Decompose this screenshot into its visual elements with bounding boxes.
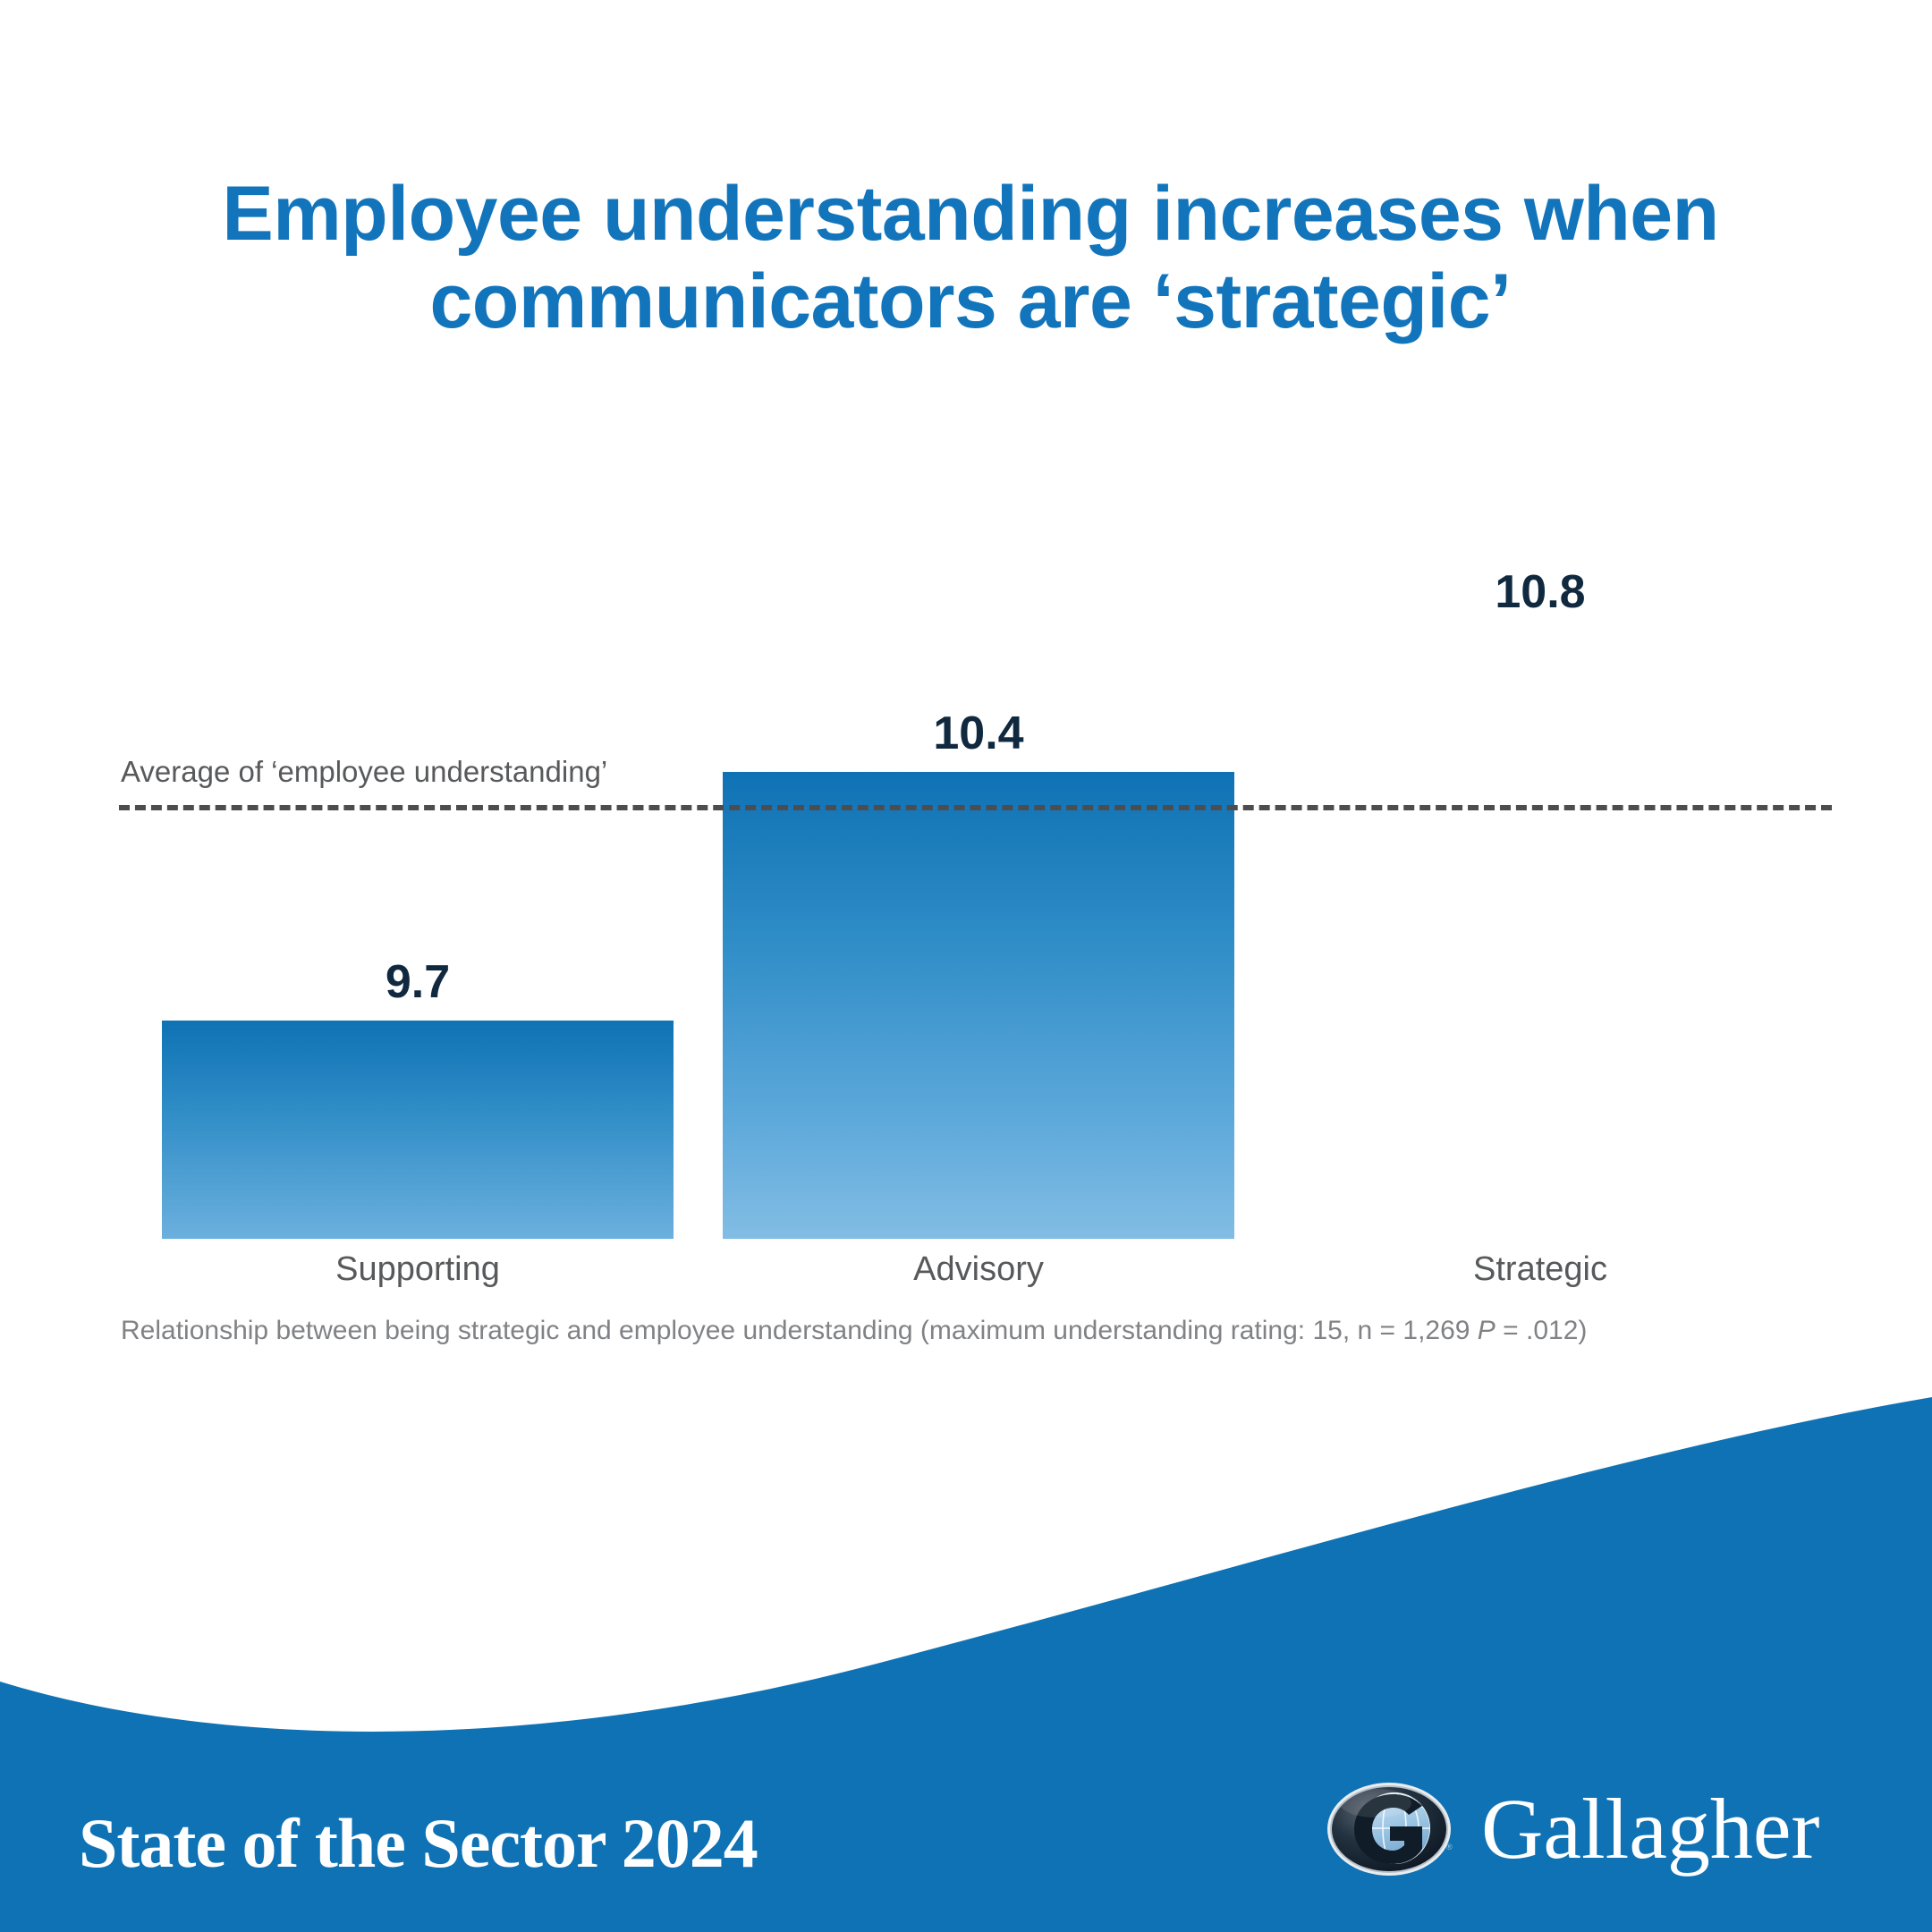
bar-advisory <box>723 772 1234 1239</box>
brand-lockup: ® Gallagher <box>1324 1780 1819 1878</box>
category-label-strategic: Strategic <box>1284 1252 1797 1286</box>
footnote-suffix: = .012) <box>1496 1316 1588 1345</box>
bar-chart: 9.7 10.4 10.8 Average of ‘employee under… <box>0 0 1932 1395</box>
bar-value-strategic: 10.8 <box>1284 569 1797 615</box>
footnote-prefix: Relationship between being strategic and… <box>121 1316 1478 1345</box>
svg-text:®: ® <box>1446 1843 1453 1851</box>
gallagher-globe-icon: ® <box>1324 1780 1454 1878</box>
category-label-supporting: Supporting <box>162 1252 674 1286</box>
infographic-page: Employee understanding increases when co… <box>0 0 1932 1932</box>
average-reference-line <box>119 805 1832 810</box>
bar-value-advisory: 10.4 <box>723 710 1234 757</box>
chart-footnote: Relationship between being strategic and… <box>121 1318 1587 1344</box>
brand-name: Gallagher <box>1481 1786 1819 1872</box>
bar-strategic <box>1284 631 1797 1239</box>
average-line-label: Average of ‘employee understanding’ <box>121 757 607 786</box>
report-title: State of the Sector 2024 <box>79 1809 758 1878</box>
bar-value-supporting: 9.7 <box>162 959 674 1005</box>
category-label-advisory: Advisory <box>723 1252 1234 1286</box>
footnote-p-symbol: P <box>1478 1316 1496 1345</box>
bar-supporting <box>162 1021 674 1239</box>
